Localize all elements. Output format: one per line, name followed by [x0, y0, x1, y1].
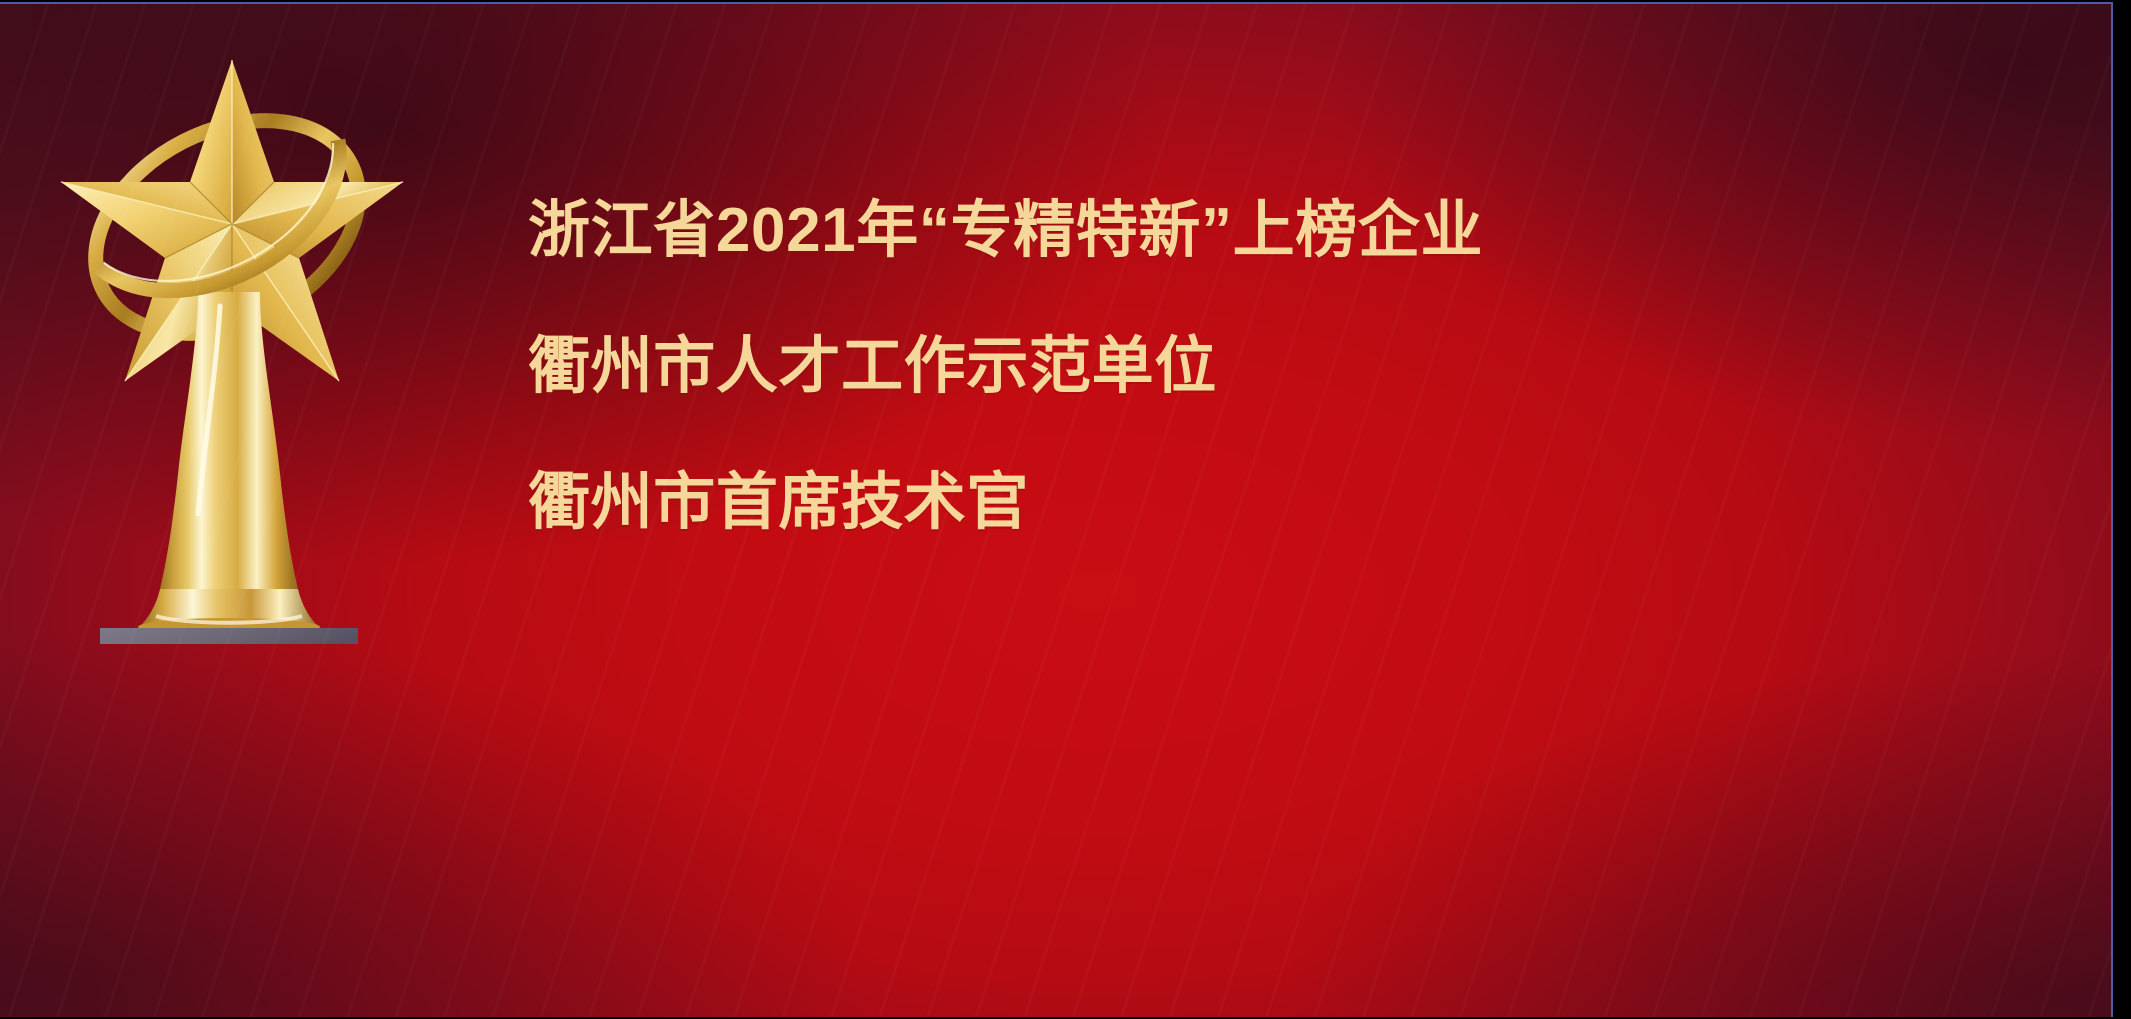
screenshot-stage: 浙江省2021年“专精特新”上榜企业 衢州市人才工作示范单位 衢州市首席技术官	[0, 0, 2131, 1019]
star-trophy-icon	[52, 44, 412, 644]
award-banner: 浙江省2021年“专精特新”上榜企业 衢州市人才工作示范单位 衢州市首席技术官	[0, 2, 2113, 1017]
trophy-base	[100, 628, 358, 644]
headline-line-1: 浙江省2021年“专精特新”上榜企业	[528, 200, 2008, 262]
headline-block: 浙江省2021年“专精特新”上榜企业 衢州市人才工作示范单位 衢州市首席技术官	[528, 200, 2008, 534]
headline-line-2: 衢州市人才工作示范单位	[528, 336, 2008, 398]
headline-line-3: 衢州市首席技术官	[528, 472, 2008, 534]
